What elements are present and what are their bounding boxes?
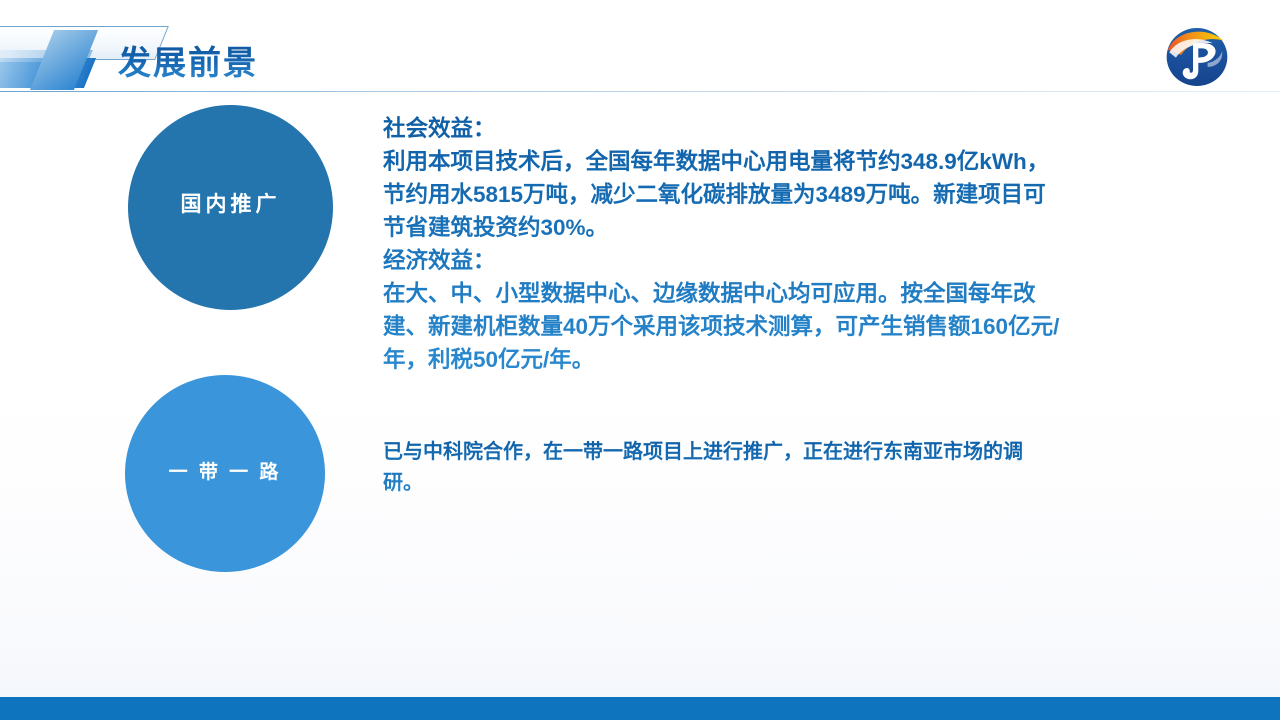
company-logo-icon [1164, 26, 1230, 88]
social-benefit-heading: 社会效益： [383, 112, 1063, 145]
slide-header: 发展前景 [0, 0, 1280, 93]
belt-and-road-text-block: 已与中科院合作，在一带一路项目上进行推广，正在进行东南亚市场的调研。 [383, 437, 1043, 499]
circle-domestic-promotion[interactable]: 国内推广 [128, 105, 333, 310]
footer-bar [0, 697, 1280, 720]
page-title: 发展前景 [118, 36, 258, 84]
benefits-text-block: 社会效益： 利用本项目技术后，全国每年数据中心用电量将节约348.9亿kWh，节… [383, 112, 1063, 376]
circle-belt-and-road-label: 一 带 一 路 [169, 457, 282, 484]
circle-domestic-promotion-label: 国内推广 [181, 188, 281, 218]
slide: 发展前景 [0, 0, 1280, 720]
circle-belt-and-road[interactable]: 一 带 一 路 [125, 375, 325, 572]
header-divider [0, 91, 1280, 92]
social-benefit-text: 利用本项目技术后，全国每年数据中心用电量将节约348.9亿kWh，节约用水581… [383, 145, 1063, 244]
economic-benefit-text: 在大、中、小型数据中心、边缘数据中心均可应用。按全国每年改建、新建机柜数量40万… [383, 277, 1063, 376]
economic-benefit-heading: 经济效益： [383, 244, 1063, 277]
belt-and-road-text: 已与中科院合作，在一带一路项目上进行推广，正在进行东南亚市场的调研。 [383, 437, 1043, 499]
